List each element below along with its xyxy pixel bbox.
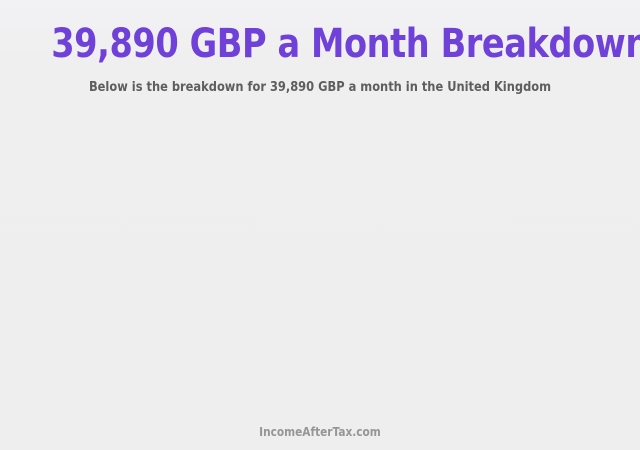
page-footer: IncomeAfterTax.com [0,425,640,439]
chart-plot-area [0,118,640,410]
site-watermark: IncomeAfterTax.com [38,425,601,439]
chart-area [0,118,640,410]
income-breakdown-page: 39,890 GBP a Month Breakdown Below is th… [0,0,640,450]
page-subtitle: Below is the breakdown for 39,890 GBP a … [38,66,601,96]
page-header: 39,890 GBP a Month Breakdown Below is th… [0,0,640,96]
page-title: 39,890 GBP a Month Breakdown [51,22,589,66]
